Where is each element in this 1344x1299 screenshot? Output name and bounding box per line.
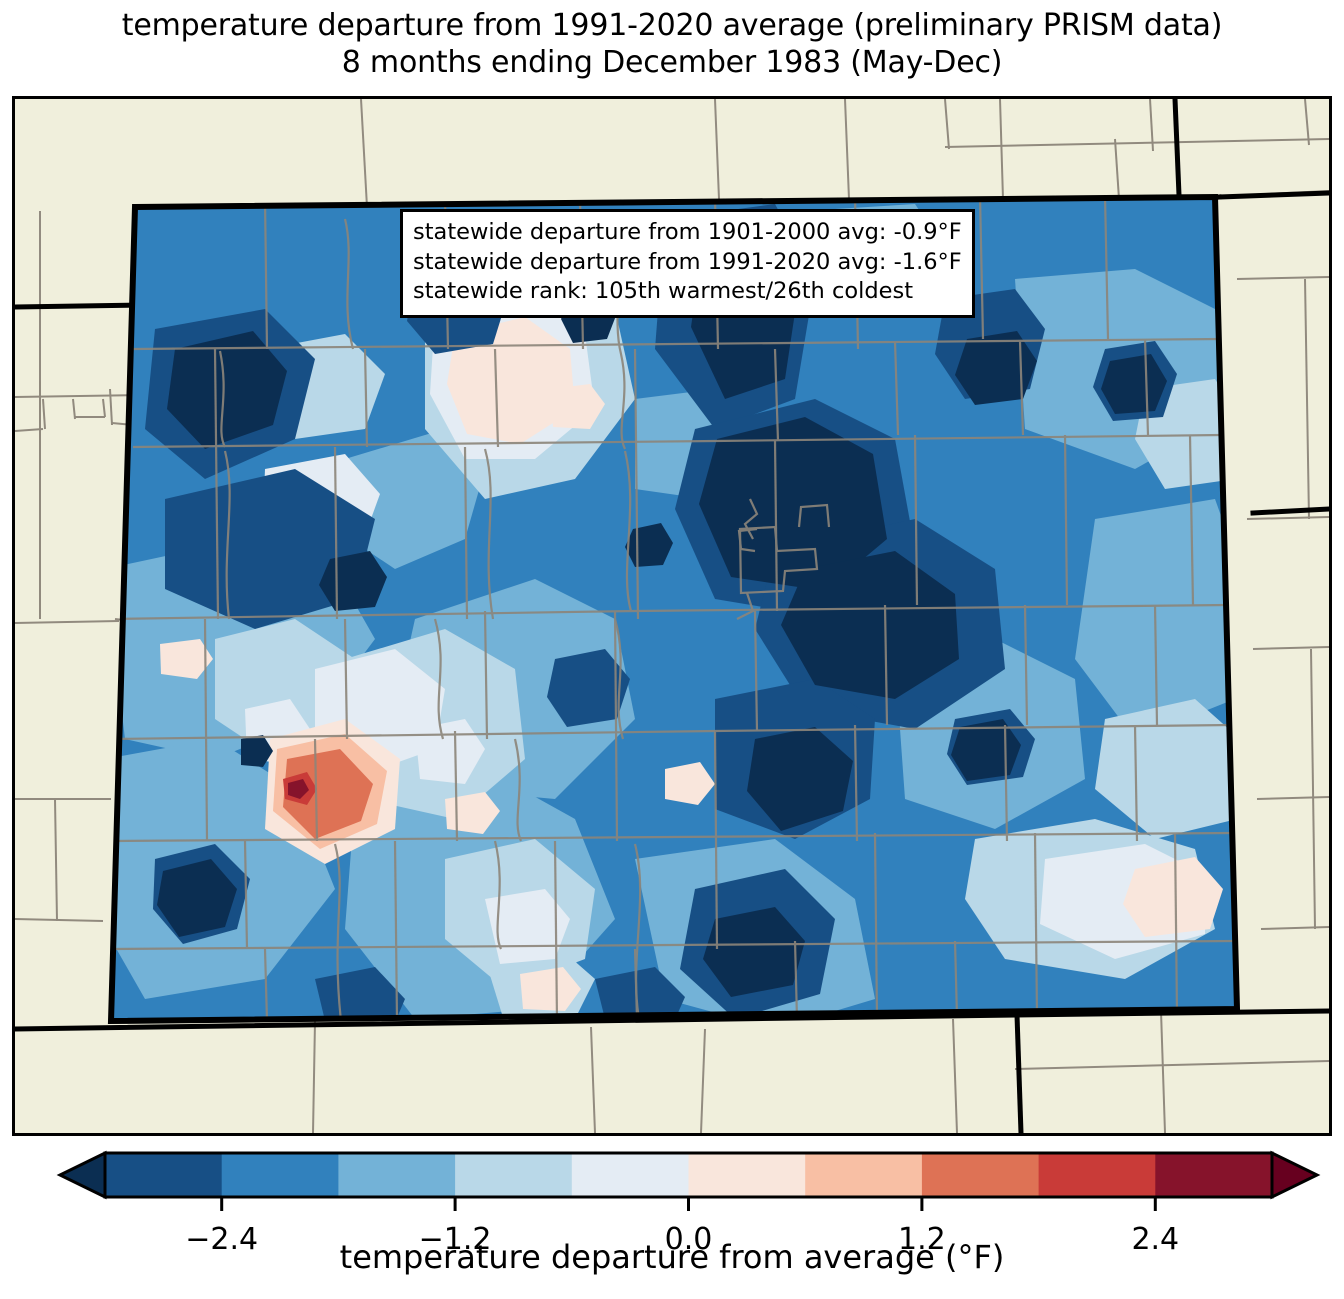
- title-line-2: 8 months ending December 1983 (May-Dec): [0, 45, 1344, 82]
- colorbar-band: [105, 1153, 222, 1197]
- colorbar-over-arrow: [1272, 1153, 1317, 1197]
- title-line-1: temperature departure from 1991-2020 ave…: [0, 8, 1344, 45]
- colorbar-band: [1155, 1153, 1272, 1197]
- colorbar-axis-label: temperature departure from average (°F): [0, 1238, 1344, 1276]
- colorbar-band: [1039, 1153, 1156, 1197]
- page-title: temperature departure from 1991-2020 ave…: [0, 8, 1344, 81]
- stats-line-2: statewide departure from 1991-2020 avg: …: [413, 248, 962, 278]
- colorbar-band: [222, 1153, 339, 1197]
- map-figure[interactable]: statewide departure from 1901-2000 avg: …: [12, 96, 1332, 1136]
- stats-line-1: statewide departure from 1901-2000 avg: …: [413, 218, 962, 248]
- colorbar-band: [805, 1153, 922, 1197]
- colorbar-under-arrow: [60, 1153, 105, 1197]
- colorbar-band: [572, 1153, 689, 1197]
- colorbar-band: [689, 1153, 806, 1197]
- colorbar-band: [455, 1153, 572, 1197]
- colorbar-band: [338, 1153, 455, 1197]
- colorbar-bands: [60, 1153, 1317, 1197]
- colorbar-ticks: [222, 1197, 1156, 1211]
- colorbar-band: [922, 1153, 1039, 1197]
- statewide-stats-box: statewide departure from 1901-2000 avg: …: [400, 209, 975, 318]
- stats-line-3: statewide rank: 105th warmest/26th colde…: [413, 277, 962, 307]
